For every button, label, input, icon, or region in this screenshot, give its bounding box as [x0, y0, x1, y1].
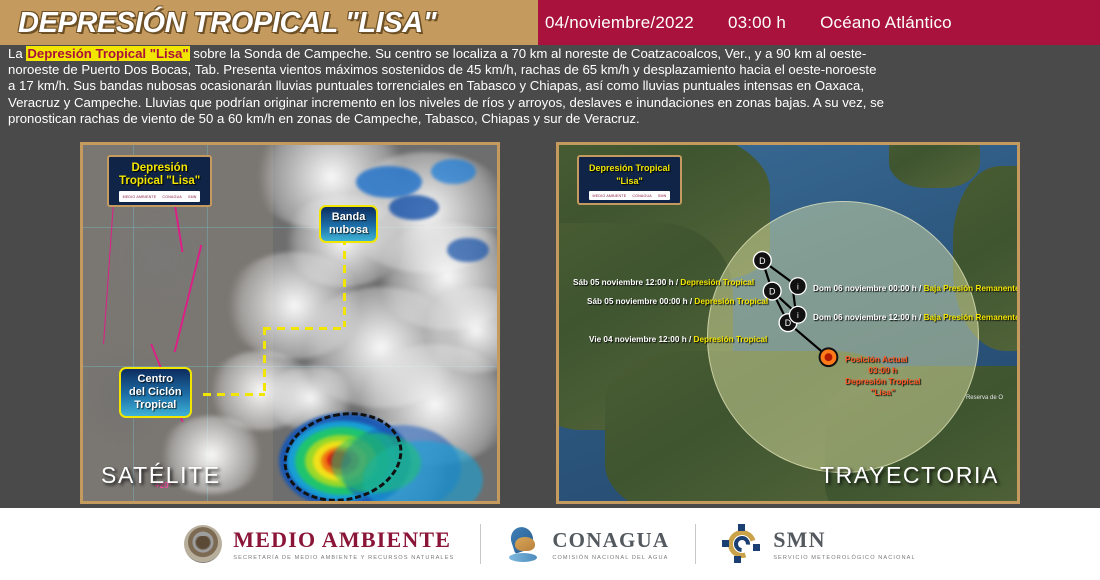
forecast-category-3: Baja Presión Remanente — [924, 313, 1020, 322]
mexico-coat-of-arms-icon — [184, 525, 222, 563]
forecast-when-4: Vie 04 noviembre 12:00 h / — [589, 335, 691, 344]
smn-spiral-icon — [722, 524, 762, 564]
page-header: DEPRESIÓN TROPICAL "LISA" 04/noviembre/2… — [0, 0, 1100, 45]
satellite-badge-line2: Tropical "Lisa" — [119, 175, 200, 188]
bulletin-line-2: noroeste de Puerto Dos Bocas, Tab. Prese… — [8, 62, 1100, 78]
centro-ciclon-line3: Tropical — [129, 399, 182, 412]
logo-smn: SMN SERVICIO METEOROLÓGICO NACIONAL — [722, 524, 915, 564]
forecast-label-1: Sáb 05 noviembre 00:00 h / Depresión Tro… — [587, 297, 768, 306]
map-reserve-note: Reserva de O — [966, 395, 1003, 401]
svg-text:D: D — [785, 318, 791, 328]
bulletin-line-1-pre: La — [8, 46, 26, 61]
forecast-category-4: Depresión Tropical — [694, 335, 768, 344]
centro-ciclon-line1: Centro — [129, 373, 182, 386]
conagua-title: CONAGUA — [552, 528, 669, 553]
badge-logo-smn: SMN — [188, 195, 197, 199]
bulletin-line-5: pronostican rachas de viento de 50 a 60 … — [8, 111, 1100, 127]
footer-divider — [480, 524, 481, 564]
trajectory-panel[interactable]: D D D i i — [556, 142, 1020, 504]
forecast-when-3: Dom 06 noviembre 12:00 h / — [813, 313, 921, 322]
bulletin-date: 04/noviembre/2022 — [545, 13, 694, 33]
trajectory-panel-caption: TRAYECTORIA — [820, 462, 999, 489]
forecast-label-3: Dom 06 noviembre 12:00 h / Baja Presión … — [813, 313, 1020, 322]
medio-ambiente-title: MEDIO AMBIENTE — [233, 527, 454, 553]
forecast-label-4: Vie 04 noviembre 12:00 h / Depresión Tro… — [589, 335, 767, 344]
footer-divider — [695, 524, 696, 564]
bulletin-line-1-post: sobre la Sonda de Campeche. Su centro se… — [190, 46, 867, 61]
forecast-category-2: Baja Presión Remanente — [924, 284, 1020, 293]
banda-nubosa-line2: nubosa — [329, 224, 368, 237]
page-title: DEPRESIÓN TROPICAL "LISA" — [18, 4, 528, 42]
satellite-image: Depresión Tropical "Lisa" MEDIO AMBIENTE… — [83, 145, 497, 501]
badge-logo-smn: SMN — [658, 194, 667, 198]
bulletin-text: La Depresión Tropical "Lisa" sobre la So… — [8, 46, 1100, 134]
page-footer: MEDIO AMBIENTE SECRETARÍA DE MEDIO AMBIE… — [0, 508, 1100, 580]
bulletin-line-3: a 17 km/h. Sus bandas nubosas ocasionará… — [8, 78, 1100, 94]
current-position-label: Posición Actual 03:00 h Depresión Tropic… — [845, 354, 920, 398]
trajectory-badge-line1: Depresión Tropical — [589, 162, 670, 175]
banda-leader-line — [263, 327, 347, 330]
trajectory-badge-line2: "Lisa" — [589, 175, 670, 188]
storm-name-highlight: Depresión Tropical "Lisa" — [26, 46, 189, 61]
badge-logo-semarnat: MEDIO AMBIENTE — [123, 195, 157, 199]
conagua-subtitle: COMISIÓN NACIONAL DEL AGUA — [552, 555, 669, 561]
satellite-logo-badge: Depresión Tropical "Lisa" MEDIO AMBIENTE… — [107, 155, 212, 207]
trajectory-map: D D D i i — [559, 145, 1017, 501]
bulletin-basin: Océano Atlántico — [820, 13, 952, 33]
centro-ciclon-line2: del Ciclón — [129, 386, 182, 399]
forecast-label-2: Dom 06 noviembre 00:00 h / Baja Presión … — [813, 284, 1020, 293]
trajectory-logo-badge: Depresión Tropical "Lisa" MEDIO AMBIENTE… — [577, 155, 682, 205]
satellite-badge-line1: Depresión — [119, 162, 200, 175]
satellite-panel[interactable]: Depresión Tropical "Lisa" MEDIO AMBIENTE… — [80, 142, 500, 504]
badge-logo-semarnat: MEDIO AMBIENTE — [593, 194, 627, 198]
bulletin-line-1: La Depresión Tropical "Lisa" sobre la So… — [8, 46, 1100, 62]
svg-text:D: D — [759, 256, 765, 266]
medio-ambiente-subtitle: SECRETARÍA DE MEDIO AMBIENTE Y RECURSOS … — [233, 555, 454, 561]
annotation-centro-ciclon: Centro del Ciclón Tropical — [119, 367, 192, 418]
forecast-when-1: Sáb 05 noviembre 00:00 h / — [587, 297, 692, 306]
current-position-time: 03:00 h — [845, 365, 920, 376]
annotation-banda-nubosa: Banda nubosa — [319, 205, 378, 243]
current-position-category-1: Depresión Tropical — [845, 376, 920, 387]
header-metadata: 04/noviembre/2022 03:00 h Océano Atlánti… — [545, 0, 1095, 45]
banda-nubosa-line1: Banda — [329, 211, 368, 224]
forecast-when-2: Dom 06 noviembre 00:00 h / — [813, 284, 921, 293]
water-drop-icon — [507, 525, 541, 563]
centro-leader-line — [263, 327, 266, 395]
satellite-panel-caption: SATÉLITE — [101, 462, 221, 489]
svg-text:D: D — [769, 287, 775, 297]
forecast-when-0: Sáb 05 noviembre 12:00 h / — [573, 278, 678, 287]
badge-logo-conagua: CONAGUA — [632, 194, 652, 198]
svg-text:i: i — [797, 283, 799, 292]
forecast-label-0: Sáb 05 noviembre 12:00 h / Depresión Tro… — [573, 278, 754, 287]
smn-title: SMN — [773, 527, 915, 553]
forecast-category-1: Depresión Tropical — [694, 297, 768, 306]
logo-conagua: CONAGUA COMISIÓN NACIONAL DEL AGUA — [507, 525, 669, 563]
current-position-category-2: "Lisa" — [845, 387, 920, 398]
svg-text:i: i — [797, 311, 799, 320]
smn-subtitle: SERVICIO METEOROLÓGICO NACIONAL — [773, 555, 915, 562]
badge-logo-conagua: CONAGUA — [162, 195, 182, 199]
trajectory-badge-logos: MEDIO AMBIENTE CONAGUA SMN — [589, 191, 670, 200]
centro-leader-line — [203, 393, 265, 396]
satellite-badge-logos: MEDIO AMBIENTE CONAGUA SMN — [119, 191, 200, 202]
bulletin-line-4: Veracruz y Campeche. Lluvias que podrían… — [8, 95, 1100, 111]
current-position-title: Posición Actual — [845, 354, 920, 365]
bulletin-time: 03:00 h — [728, 13, 786, 33]
forecast-category-0: Depresión Tropical — [680, 278, 754, 287]
logo-medio-ambiente: MEDIO AMBIENTE SECRETARÍA DE MEDIO AMBIE… — [184, 525, 454, 563]
